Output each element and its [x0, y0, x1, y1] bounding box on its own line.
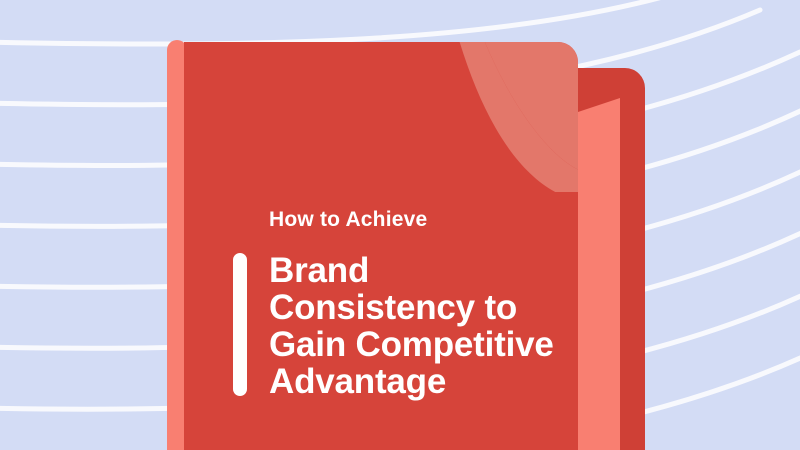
cover-title-line: Advantage: [269, 363, 569, 400]
cover-graphic: How to Achieve Brand Consistency to Gain…: [0, 0, 800, 450]
cover-title-line: Brand: [269, 252, 569, 289]
cover-title-line: Consistency to: [269, 289, 569, 326]
book-illustration: How to Achieve Brand Consistency to Gain…: [0, 0, 800, 450]
cover-title: Brand Consistency to Gain Competitive Ad…: [269, 252, 569, 400]
title-accent-bar: [233, 253, 247, 396]
cover-gloss-highlight: [184, 42, 578, 192]
cover-eyebrow: How to Achieve: [269, 207, 427, 233]
cover-title-line: Gain Competitive: [269, 326, 569, 363]
book-pages-edge: [578, 72, 620, 450]
